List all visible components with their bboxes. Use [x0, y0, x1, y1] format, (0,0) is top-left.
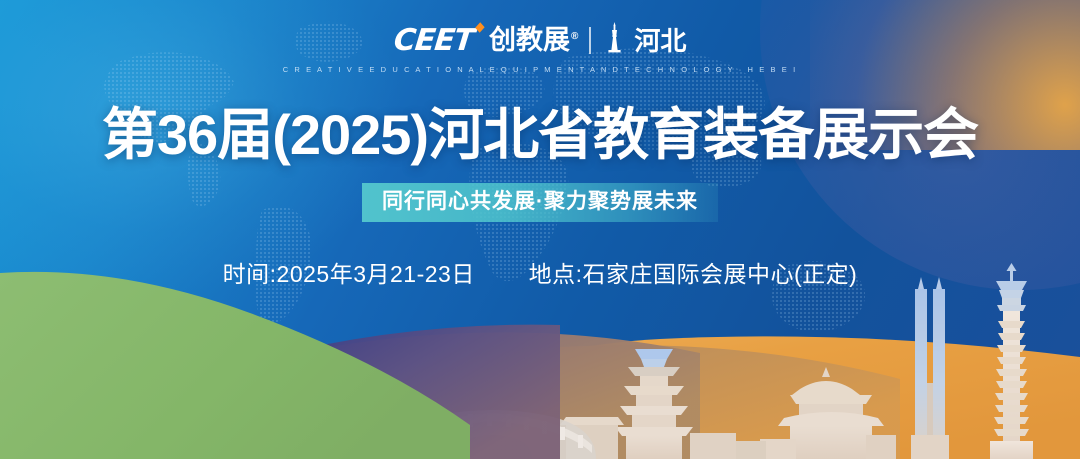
ceet-text: CEET: [392, 23, 475, 58]
event-logo: CEET 创教展® 河北 C R E A T I V E E D U C A T: [0, 22, 1080, 74]
logo-tagline: C R E A T I V E E D U C A T I O N A L E …: [283, 65, 798, 74]
brand-chinese-name: 创教展®: [489, 27, 578, 54]
subtitle-row: 同行同心共发展·聚力聚势展未来: [0, 183, 1080, 222]
event-meta: 时间:2025年3月21-23日 地点:石家庄国际会展中心(正定): [0, 255, 1080, 289]
registered-icon: ®: [571, 31, 578, 42]
event-venue: 地点:石家庄国际会展中心(正定): [529, 261, 858, 287]
logo-divider: [589, 27, 591, 54]
region-label: 河北: [634, 28, 686, 54]
tv-tower-icon: [606, 22, 623, 59]
event-banner: CEET 创教展® 河北 C R E A T I V E E D U C A T: [0, 0, 1080, 459]
event-date: 时间:2025年3月21-23日: [223, 261, 475, 287]
brand-cn-text: 创教展: [489, 25, 570, 55]
logo-row: CEET 创教展® 河北: [394, 22, 687, 59]
spark-icon: [475, 22, 484, 32]
ceet-wordmark: CEET: [392, 26, 475, 56]
page-title: 第36届(2025)河北省教育装备展示会: [0, 104, 1080, 166]
subtitle-slogan: 同行同心共发展·聚力聚势展未来: [362, 183, 718, 222]
